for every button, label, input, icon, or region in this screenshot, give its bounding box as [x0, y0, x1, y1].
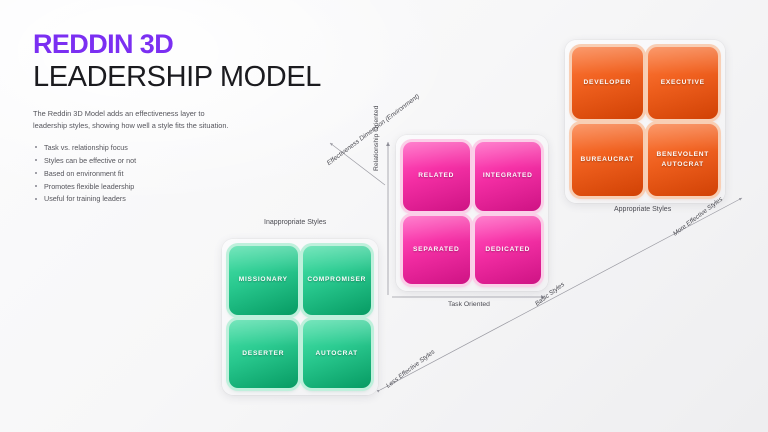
matrix-appropriate-styles[interactable]: DEVELOPER EXECUTIVE BUREAUCRAT BENEVOLEN… — [565, 40, 725, 203]
tile-developer[interactable]: DEVELOPER — [572, 47, 643, 119]
tile-autocrat[interactable]: AUTOCRAT — [303, 320, 372, 389]
axis-label-task-oriented: Task Oriented — [448, 301, 490, 308]
slide-canvas: REDDIN 3D LEADERSHIP MODEL The Reddin 3D… — [0, 0, 768, 432]
tile-related[interactable]: RELATED — [403, 142, 470, 211]
tile-separated[interactable]: SEPARATED — [403, 216, 470, 285]
tile-executive[interactable]: EXECUTIVE — [648, 47, 719, 119]
axis-label-relationship-oriented: Relationship Oriented — [373, 106, 380, 171]
caption-appropriate-styles: Appropriate Styles — [614, 206, 671, 213]
tile-integrated[interactable]: INTEGRATED — [475, 142, 542, 211]
matrix-basic-styles[interactable]: RELATED INTEGRATED SEPARATED DEDICATED — [396, 135, 548, 291]
tile-compromiser[interactable]: COMPROMISER — [303, 246, 372, 315]
tile-benevolent-autocrat[interactable]: BENEVOLENT AUTOCRAT — [648, 124, 719, 196]
tile-dedicated[interactable]: DEDICATED — [475, 216, 542, 285]
caption-inappropriate-styles: Inappropriate Styles — [264, 219, 326, 226]
tile-deserter[interactable]: DESERTER — [229, 320, 298, 389]
tile-missionary[interactable]: MISSIONARY — [229, 246, 298, 315]
matrix-inappropriate-styles[interactable]: MISSIONARY COMPROMISER DESERTER AUTOCRAT — [222, 239, 378, 395]
tile-bureaucrat[interactable]: BUREAUCRAT — [572, 124, 643, 196]
